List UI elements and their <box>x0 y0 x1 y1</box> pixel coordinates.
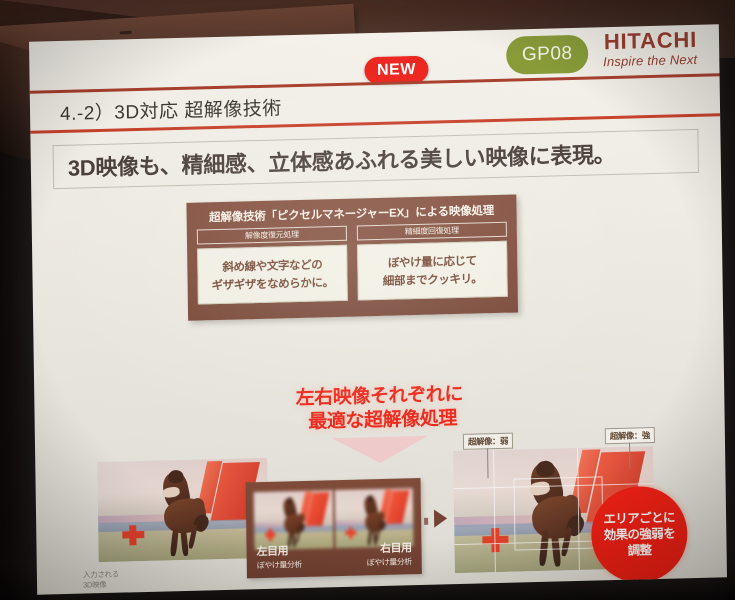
panel-column-head: 解像度復元処理 <box>197 226 347 245</box>
presentation-slide: NEW GP08 HITACHI Inspire the Next 4.-2）3… <box>29 24 727 594</box>
model-badge: GP08 <box>506 35 589 75</box>
panel-body-line: ぼやけ量に応じて <box>388 252 477 270</box>
callout-line-3: 調整 <box>628 542 652 559</box>
headline-text: 3D映像も、精細感、立体感あふれる美しい映像に表現。 <box>54 137 616 183</box>
beam-notch <box>120 31 132 35</box>
panel-column-detail: 精細度回復処理 ぼやけ量に応じて 細部までクッキリ。 <box>357 222 508 301</box>
panel-column-body: ぼやけ量に応じて 細部までクッキリ。 <box>357 241 508 301</box>
right-eye-label: 右目用 ぼやけ量分析 <box>366 539 411 568</box>
hitachi-logo: HITACHI Inspire the Next <box>603 29 698 68</box>
left-eye-label: 左目用 ぼやけ量分析 <box>256 542 301 571</box>
eye-analysis-panel: 左目用 ぼやけ量分析 右目用 ぼやけ量分析 <box>246 478 422 578</box>
panel-body-line: ギザギザをなめらかに。 <box>211 274 333 293</box>
input-image-label: 入力される 3D映像 <box>83 570 119 591</box>
callout-line-2: 効果の強弱を <box>604 525 676 543</box>
flow-connector-dots-2 <box>424 518 428 525</box>
input-label-line-1: 入力される <box>83 570 119 581</box>
brand-name: HITACHI <box>603 29 698 53</box>
right-eye-title: 右目用 <box>366 539 411 556</box>
left-eye-title: 左目用 <box>256 542 301 559</box>
page-title: 4.-2）3D対応 超解像技術 <box>60 93 282 126</box>
area-adjust-callout: エリアごとに 効果の強弱を 調整 <box>591 485 688 583</box>
panel-column-body: 斜め線や文字などの ギザギザをなめらかに。 <box>197 245 348 305</box>
brand-tagline: Inspire the Next <box>603 53 697 68</box>
panel-body-line: 斜め線や文字などの <box>222 256 322 275</box>
panel-column-head: 精細度回復処理 <box>357 222 507 241</box>
panel-column-resolution: 解像度復元処理 斜め線や文字などの ギザギザをなめらかに。 <box>197 226 348 305</box>
panel-body-line: 細部までクッキリ。 <box>383 270 483 289</box>
technology-panel: 超解像技術「ピクセルマネージャーEX」による映像処理 解像度復元処理 斜め線や文… <box>186 194 518 320</box>
flow-arrow-icon <box>434 509 447 527</box>
process-flow-row: 入力される 3D映像 <box>35 422 727 594</box>
left-eye-subtitle: ぼやけ量分析 <box>257 559 302 571</box>
input-label-line-2: 3D映像 <box>83 580 119 591</box>
right-eye-subtitle: ぼやけ量分析 <box>367 556 412 568</box>
input-3d-image <box>97 458 268 562</box>
headline-box: 3D映像も、精細感、立体感あふれる美しい映像に表現。 <box>53 129 699 189</box>
callout-line-1: エリアごとに <box>603 509 675 527</box>
projected-slide-photo: NEW GP08 HITACHI Inspire the Next 4.-2）3… <box>0 0 735 600</box>
